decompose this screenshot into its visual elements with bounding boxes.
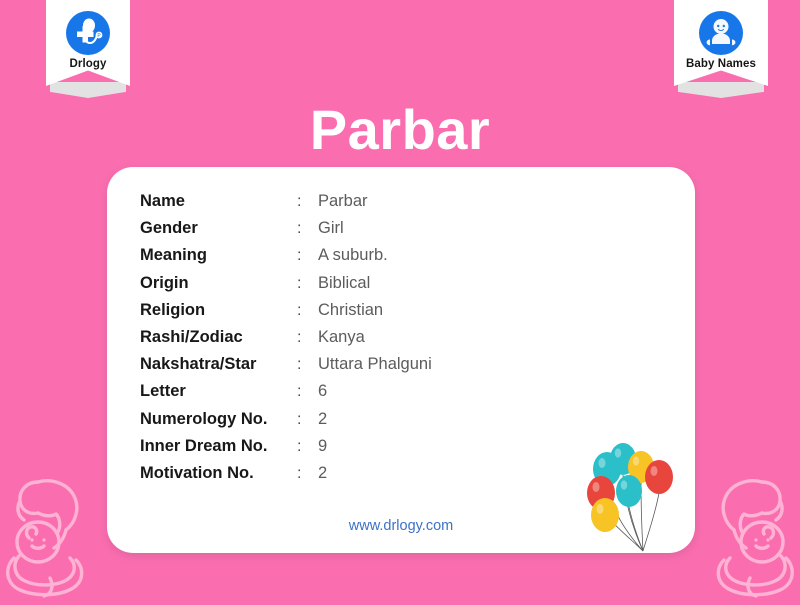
name-attributes-table: Name:ParbarGender:GirlMeaning:A suburb.O… — [140, 192, 432, 491]
attribute-value: Kanya — [318, 328, 365, 347]
badge-shadow-baby-names — [678, 82, 764, 98]
table-row: Origin:Biblical — [140, 274, 432, 301]
colon-separator: : — [297, 356, 318, 374]
baby-icon — [697, 9, 745, 57]
table-row: Name:Parbar — [140, 192, 432, 219]
mother-and-baby-icon-left — [0, 460, 106, 600]
badge-baby-names[interactable]: Baby Names — [674, 0, 768, 86]
attribute-value: Biblical — [318, 274, 370, 293]
website-link[interactable]: www.drlogy.com — [349, 518, 453, 534]
card-footer: www.drlogy.com — [107, 517, 695, 535]
attribute-value: 2 — [318, 464, 327, 483]
table-row: Motivation No.:2 — [140, 464, 432, 491]
attribute-label: Nakshatra/Star — [140, 355, 297, 374]
colon-separator: : — [297, 329, 318, 347]
attribute-value: 9 — [318, 437, 327, 456]
table-row: Meaning:A suburb. — [140, 246, 432, 273]
name-detail-card: Name:ParbarGender:GirlMeaning:A suburb.O… — [107, 167, 695, 553]
attribute-label: Origin — [140, 274, 297, 293]
attribute-label: Inner Dream No. — [140, 437, 297, 456]
attribute-value: Girl — [318, 219, 344, 238]
badge-ribbon-drlogy: P Drlogy — [46, 0, 130, 86]
balloons-icon — [585, 439, 689, 553]
table-row: Rashi/Zodiac:Kanya — [140, 328, 432, 355]
attribute-value: Parbar — [318, 192, 368, 211]
badge-shadow-drlogy — [50, 82, 126, 98]
colon-separator: : — [297, 247, 318, 265]
attribute-value: 6 — [318, 382, 327, 401]
colon-separator: : — [297, 383, 318, 401]
attribute-label: Motivation No. — [140, 464, 297, 483]
attribute-label: Meaning — [140, 246, 297, 265]
colon-separator: : — [297, 193, 318, 211]
table-row: Letter:6 — [140, 382, 432, 409]
badge-label-baby-names: Baby Names — [680, 59, 762, 71]
badge-drlogy[interactable]: P Drlogy — [46, 0, 130, 86]
attribute-label: Letter — [140, 382, 297, 401]
attribute-label: Rashi/Zodiac — [140, 328, 297, 347]
colon-separator: : — [297, 275, 318, 293]
attribute-label: Gender — [140, 219, 297, 238]
colon-separator: : — [297, 411, 318, 429]
table-row: Religion:Christian — [140, 301, 432, 328]
attribute-value: 2 — [318, 410, 327, 429]
attribute-label: Religion — [140, 301, 297, 320]
attribute-value: Uttara Phalguni — [318, 355, 432, 374]
colon-separator: : — [297, 438, 318, 456]
colon-separator: : — [297, 465, 318, 483]
mother-and-baby-icon-right — [694, 460, 800, 600]
doctor-stethoscope-cross-icon: P — [64, 9, 112, 57]
badge-ribbon-baby-names: Baby Names — [674, 0, 768, 86]
badge-label-drlogy: Drlogy — [52, 59, 124, 71]
page-title: Parbar — [0, 102, 800, 158]
colon-separator: : — [297, 220, 318, 238]
colon-separator: : — [297, 302, 318, 320]
attribute-label: Name — [140, 192, 297, 211]
attribute-value: Christian — [318, 301, 383, 320]
table-row: Gender:Girl — [140, 219, 432, 246]
table-row: Nakshatra/Star:Uttara Phalguni — [140, 355, 432, 382]
table-row: Inner Dream No.:9 — [140, 437, 432, 464]
table-row: Numerology No.:2 — [140, 410, 432, 437]
attribute-label: Numerology No. — [140, 410, 297, 429]
attribute-value: A suburb. — [318, 246, 388, 265]
